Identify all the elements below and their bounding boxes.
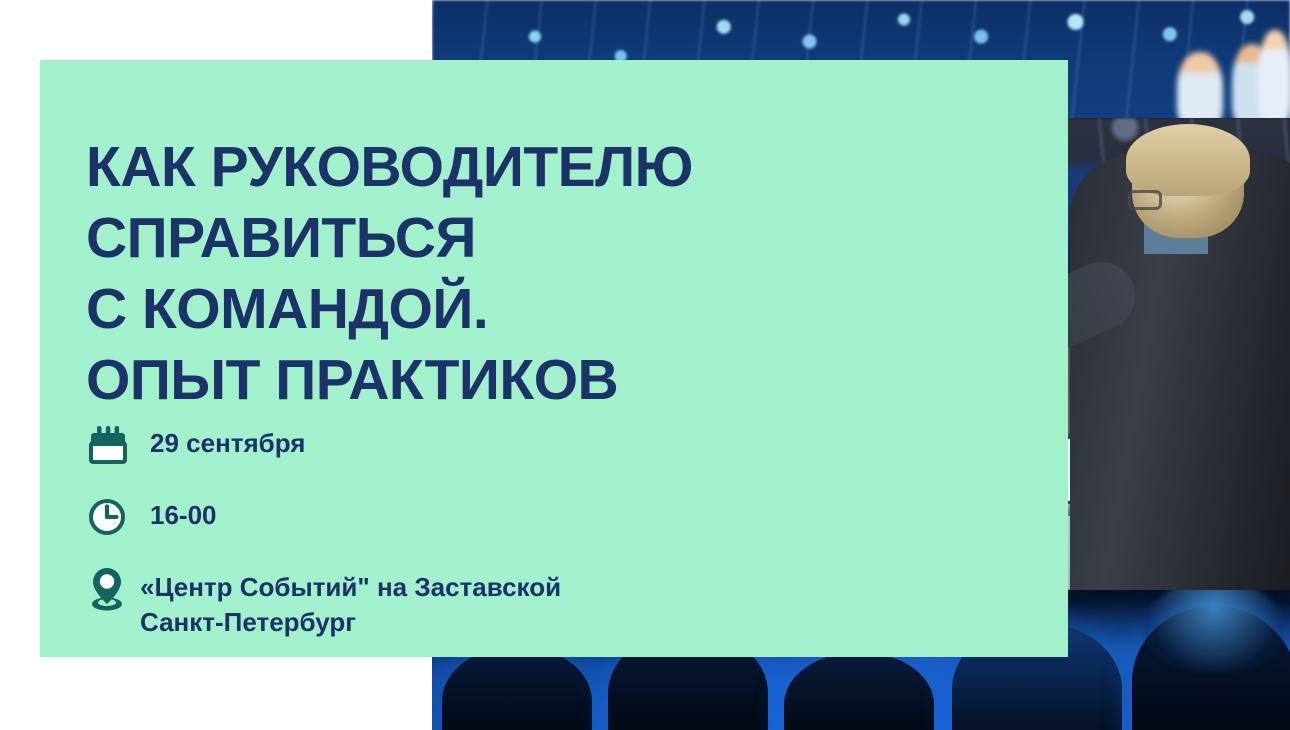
speaker-glasses xyxy=(1128,190,1162,210)
stage-person-3 xyxy=(1258,30,1290,126)
detail-row-date: 29 сентября xyxy=(86,420,726,470)
audience-silhouette-1 xyxy=(442,646,592,730)
calendar-icon xyxy=(86,420,140,470)
event-details: 29 сентября 16-00 «Центр Со xyxy=(86,420,726,640)
venue-line-2: Санкт-Петербург xyxy=(140,605,561,640)
event-time: 16-00 xyxy=(140,492,217,533)
speaker-hair xyxy=(1126,124,1250,196)
clock-icon xyxy=(86,492,140,542)
title-line-4: ОПЫТ ПРАКТИКОВ xyxy=(86,345,766,416)
event-poster: КАК РУКОВОДИТЕЛЮ СПРАВИТЬСЯ С КОМАНДОЙ. … xyxy=(0,0,1290,730)
detail-row-time: 16-00 xyxy=(86,492,726,542)
title-line-1: КАК РУКОВОДИТЕЛЮ xyxy=(86,132,766,203)
location-pin-icon xyxy=(86,564,140,614)
title-line-3: С КОМАНДОЙ. xyxy=(86,274,766,345)
page-title: КАК РУКОВОДИТЕЛЮ СПРАВИТЬСЯ С КОМАНДОЙ. … xyxy=(86,132,766,416)
event-date: 29 сентября xyxy=(140,420,305,461)
audience-silhouette-5-hair xyxy=(1144,590,1284,672)
title-line-2: СПРАВИТЬСЯ xyxy=(86,203,766,274)
venue-line-1: «Центр Событий" на Заставской xyxy=(140,570,561,605)
detail-row-venue: «Центр Событий" на Заставской Санкт-Пете… xyxy=(86,564,726,640)
event-venue: «Центр Событий" на Заставской Санкт-Пете… xyxy=(140,564,561,640)
audience-silhouette-3 xyxy=(784,652,934,730)
